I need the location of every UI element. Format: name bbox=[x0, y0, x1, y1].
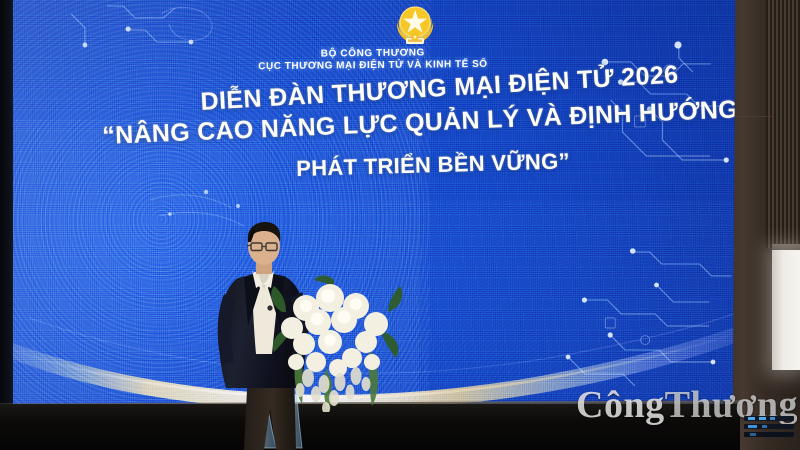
watermark-part-1: Công bbox=[576, 384, 665, 426]
wall-slat-texture bbox=[766, 0, 800, 248]
vietnam-national-emblem-icon bbox=[389, 2, 441, 48]
left-dark-edge bbox=[0, 0, 13, 450]
screenshot-root: BỘ CÔNG THƯƠNG CỤC THƯƠNG MẠI ĐIỆN TỬ VÀ… bbox=[0, 0, 800, 450]
floral-arrangement bbox=[268, 272, 408, 412]
doorway-light bbox=[772, 250, 800, 370]
av-equipment-lights bbox=[742, 414, 798, 438]
